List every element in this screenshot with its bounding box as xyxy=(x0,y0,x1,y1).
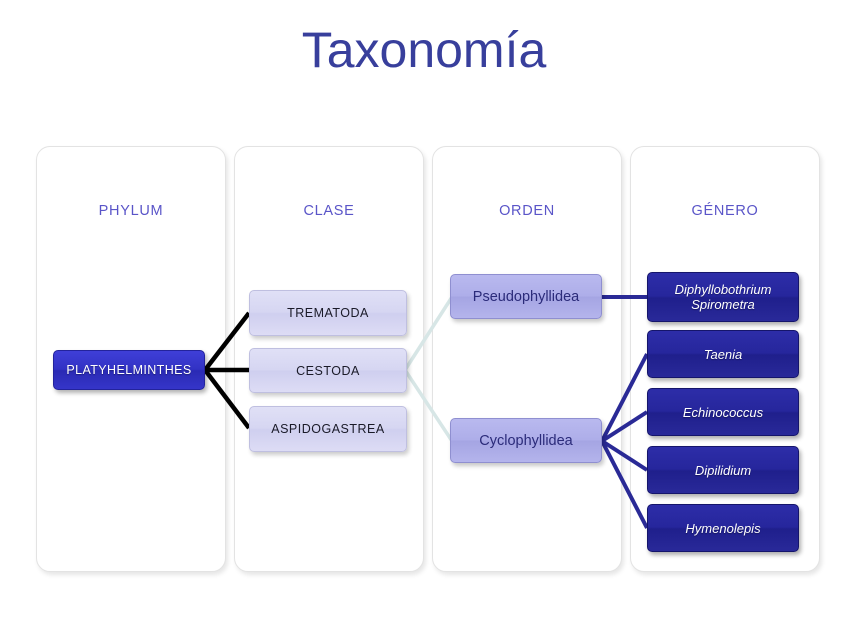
column-header-clase: CLASE xyxy=(235,203,423,219)
node-label: Cyclophyllidea xyxy=(479,433,573,449)
node-label: ASPIDOGASTREA xyxy=(271,422,384,436)
node-echinococcus[interactable]: Echinococcus xyxy=(647,388,799,436)
node-label: TREMATODA xyxy=(287,306,369,320)
node-label-line2: Spirometra xyxy=(675,297,772,312)
node-label: Dipilidium xyxy=(695,463,751,478)
node-label: Pseudophyllidea xyxy=(473,289,579,305)
node-label: PLATYHELMINTHES xyxy=(66,363,191,377)
node-label: Echinococcus xyxy=(683,405,763,420)
node-diphyllobothrium-spirometra[interactable]: Diphyllobothrium Spirometra xyxy=(647,272,799,322)
node-dipilidium[interactable]: Dipilidium xyxy=(647,446,799,494)
node-label-wrapper: Diphyllobothrium Spirometra xyxy=(675,282,772,312)
node-platyhelminthes[interactable]: PLATYHELMINTHES xyxy=(53,350,205,390)
column-header-orden: ORDEN xyxy=(433,203,621,219)
node-cestoda[interactable]: CESTODA xyxy=(249,348,407,393)
column-header-genero: GÉNERO xyxy=(631,203,819,219)
page-title: Taxonomía xyxy=(0,22,848,80)
node-trematoda[interactable]: TREMATODA xyxy=(249,290,407,336)
node-taenia[interactable]: Taenia xyxy=(647,330,799,378)
node-label: Hymenolepis xyxy=(685,521,760,536)
column-header-phylum: PHYLUM xyxy=(37,203,225,219)
node-label: CESTODA xyxy=(296,364,360,378)
node-aspidogastrea[interactable]: ASPIDOGASTREA xyxy=(249,406,407,452)
node-label: Taenia xyxy=(704,347,743,362)
node-pseudophyllidea[interactable]: Pseudophyllidea xyxy=(450,274,602,319)
node-cyclophyllidea[interactable]: Cyclophyllidea xyxy=(450,418,602,463)
node-hymenolepis[interactable]: Hymenolepis xyxy=(647,504,799,552)
column-panel-orden: ORDEN xyxy=(432,146,622,572)
node-label: Diphyllobothrium xyxy=(675,282,772,297)
